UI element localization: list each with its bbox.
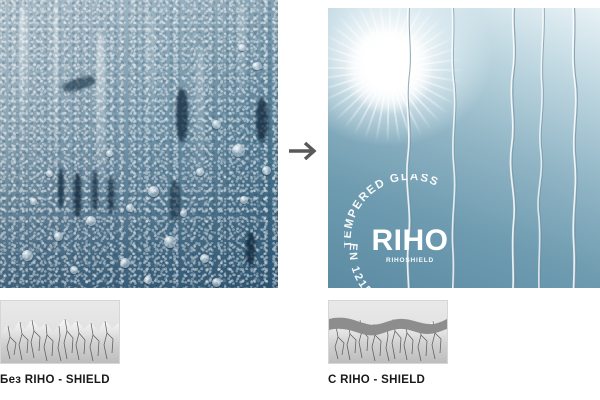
water-rivulet [534,8,542,288]
before-streak [96,30,105,200]
before-streak [52,0,59,150]
water-droplet [196,168,204,176]
before-soil-smudge [74,172,81,218]
before-soil-smudge [256,98,268,142]
before-streak [196,46,204,206]
before-soil-smudge [108,176,114,214]
water-rivulet [568,8,576,288]
before-soil-smudge [176,88,188,142]
before-streak [238,2,245,112]
stamp-brand-text: RIHO [372,224,449,257]
comparison-figure: TEMPERED GLASS EN 12150-1 ST RIHO RIHOSH… [0,0,600,400]
stamp-subbrand-text: RIHOSHIELD [386,257,434,264]
water-droplet [106,150,113,157]
before-streak [148,12,154,142]
water-droplet [22,250,33,261]
water-droplet [212,120,221,129]
sun-core [346,26,432,112]
water-droplet [126,204,134,212]
water-droplet [212,278,221,287]
before-soil-smudge [58,168,64,208]
water-droplet [200,254,209,263]
riho-tempered-glass-stamp: TEMPERED GLASS EN 12150-1 ST RIHO RIHOSH… [344,174,476,288]
before-cross-section-diagram [0,300,120,364]
before-photo [0,0,278,288]
before-caption: Без RIHO - SHIELD [0,374,110,386]
after-cross-section-diagram [328,300,448,364]
water-droplet [120,258,130,268]
after-photo: TEMPERED GLASS EN 12150-1 ST RIHO RIHOSH… [328,8,600,288]
before-streak [18,6,28,126]
water-droplet [252,62,262,70]
before-soil-smudge [92,170,98,212]
water-droplet [232,144,245,157]
water-droplet [148,186,159,197]
water-droplet [54,232,63,241]
water-droplet [262,166,271,175]
water-droplet [238,44,246,51]
before-soil-smudge [170,180,180,222]
water-droplet [46,170,53,177]
water-rivulet [508,8,516,288]
before-soil-smudge [246,232,255,266]
water-droplet [164,236,176,248]
water-droplet [144,276,152,284]
right-arrow-icon [288,138,322,164]
water-droplet [180,210,187,217]
water-droplet [30,198,37,205]
water-droplet [240,196,248,204]
water-droplet [70,266,78,274]
after-caption: С RIHO - SHIELD [328,374,425,386]
water-droplet [86,216,96,226]
